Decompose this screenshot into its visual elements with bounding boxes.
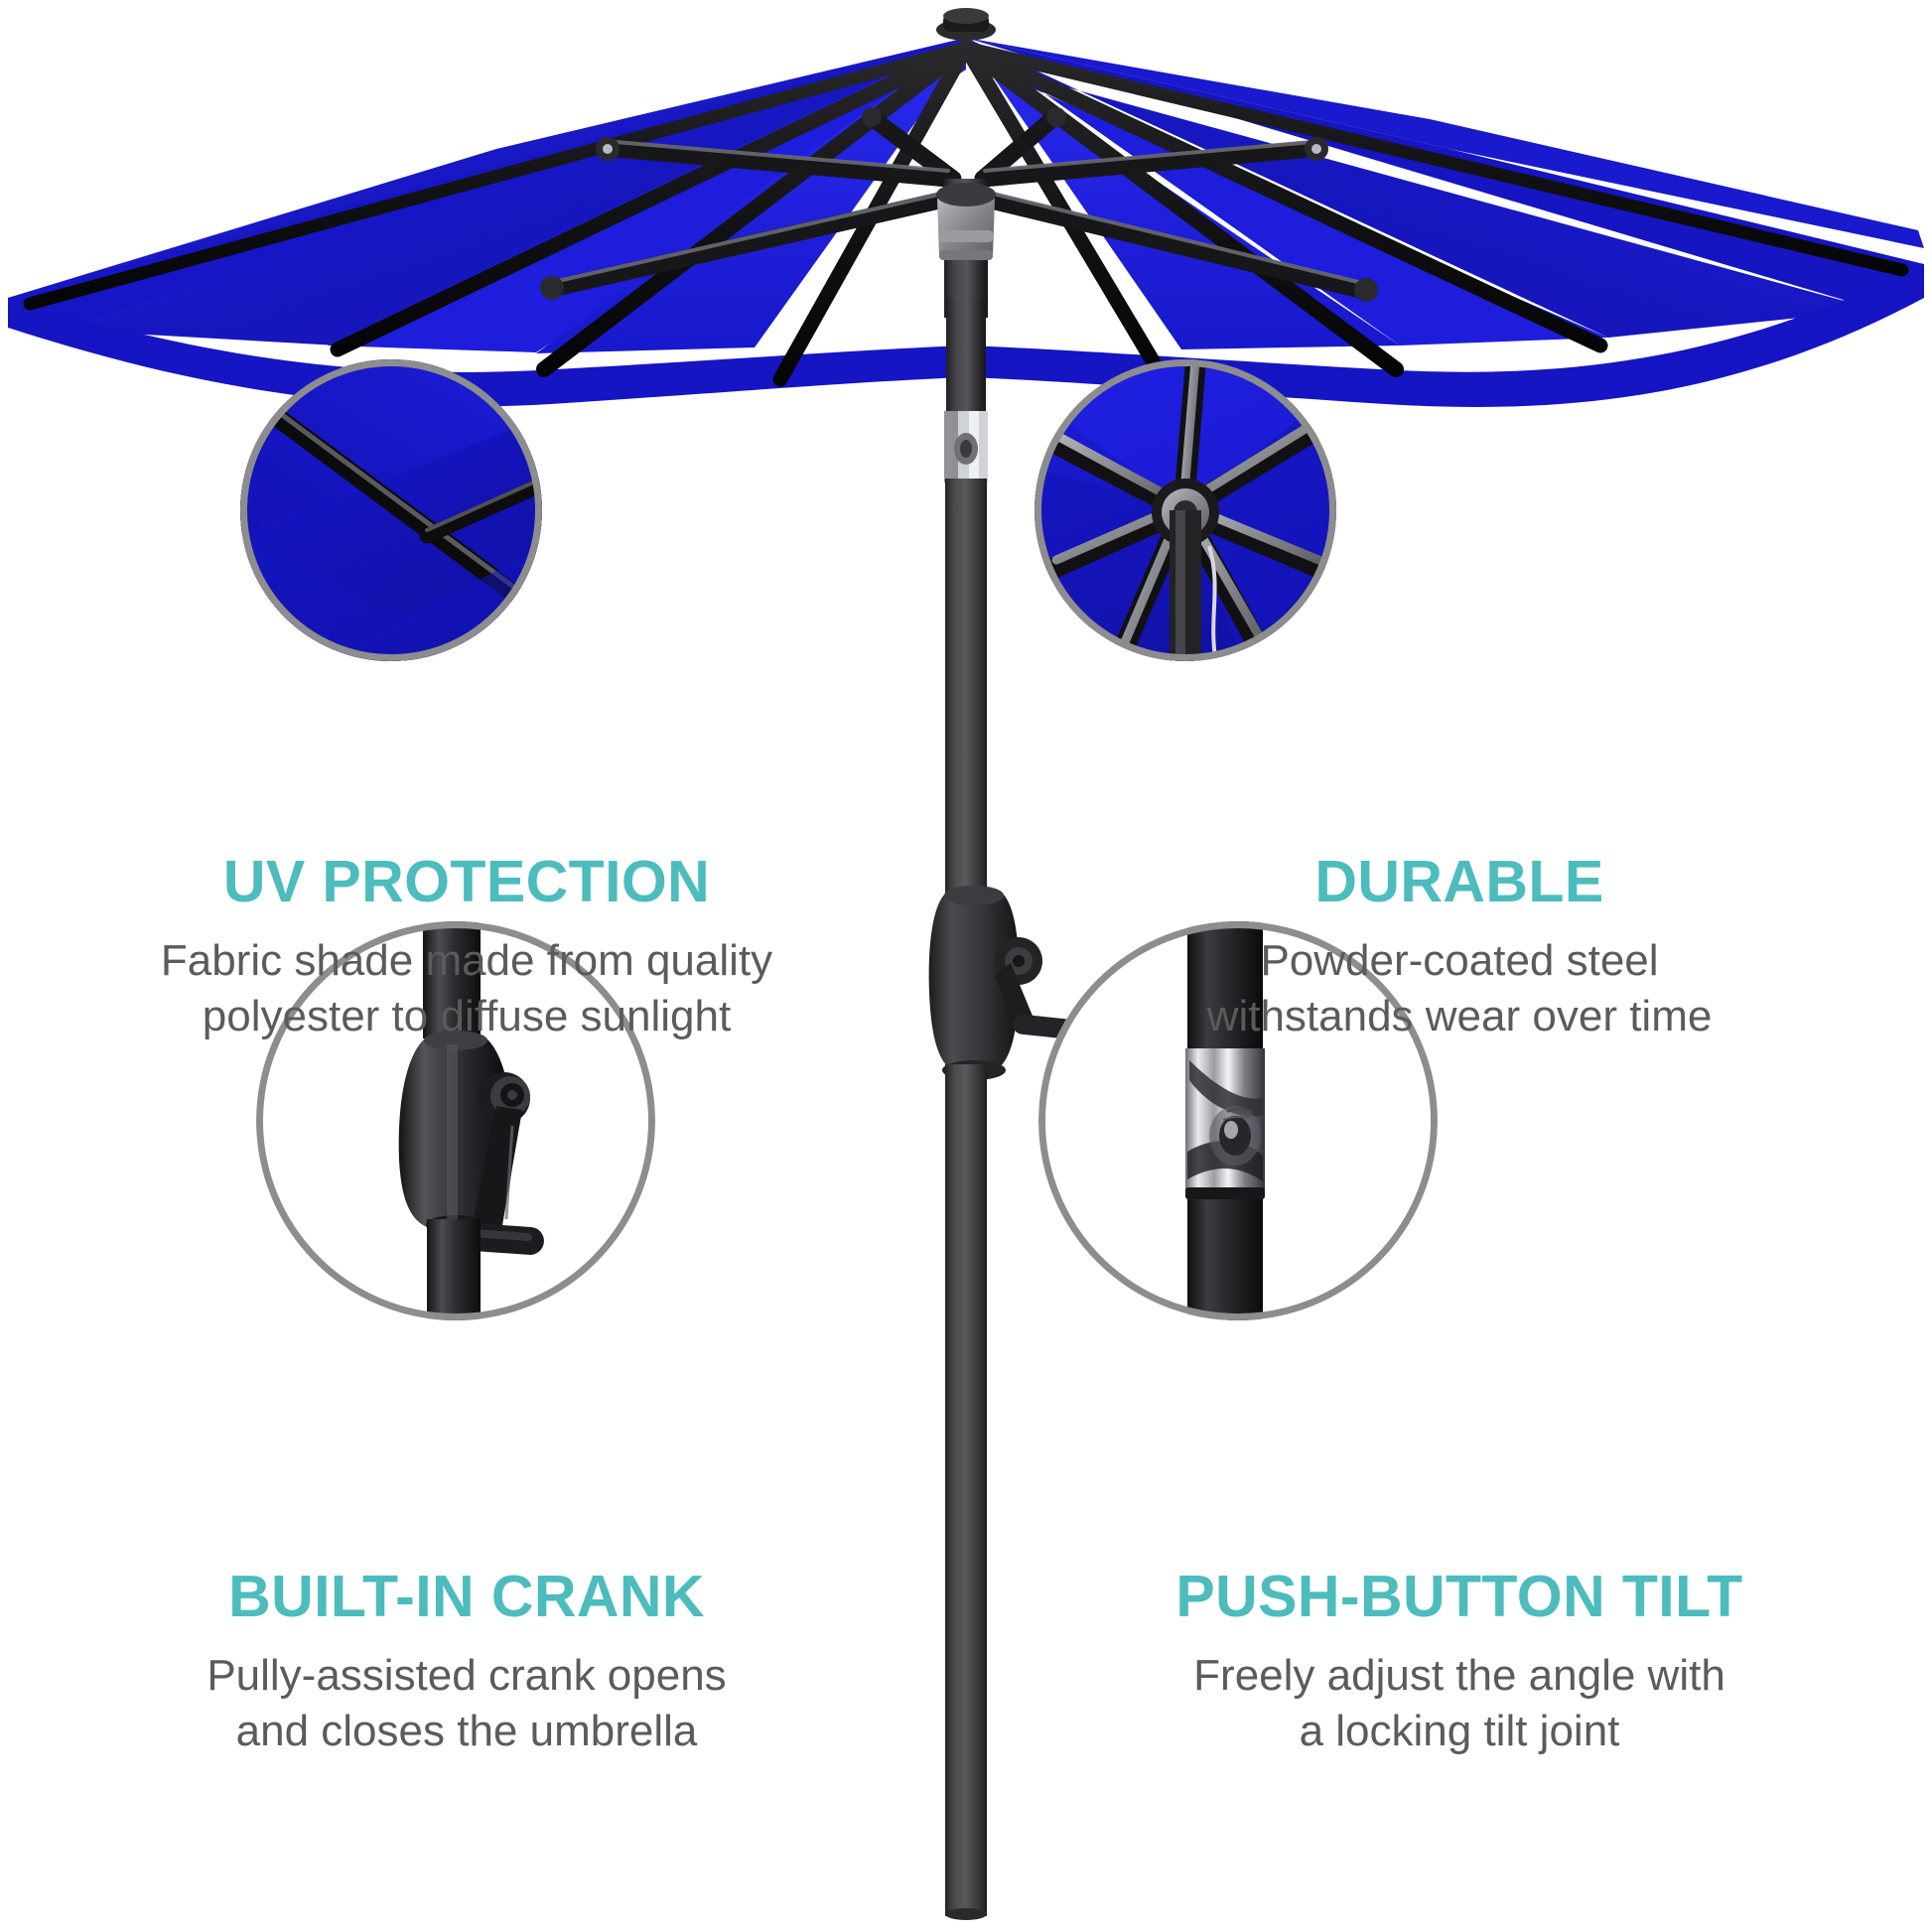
feature-description-line: withstands wear over time <box>1023 989 1896 1043</box>
feature-description: Pully-assisted crank opens and closes th… <box>40 1648 894 1758</box>
feature-title: PUSH-BUTTON TILT <box>1023 1567 1896 1626</box>
infographic-canvas: UV PROTECTION Fabric shade made from qua… <box>0 0 1932 1932</box>
feature-push-button-tilt: PUSH-BUTTON TILT Freely adjust the angle… <box>1023 1567 1896 1758</box>
feature-description-line: Freely adjust the angle with <box>1023 1648 1896 1703</box>
feature-durable: DURABLE Powder-coated steel withstands w… <box>1023 852 1896 1043</box>
feature-uv-protection: UV PROTECTION Fabric shade made from qua… <box>40 852 894 1043</box>
center-hub <box>936 179 996 318</box>
feature-description-line: and closes the umbrella <box>40 1704 894 1758</box>
feature-title: UV PROTECTION <box>40 852 894 911</box>
feature-description-line: Fabric shade made from quality <box>40 933 894 988</box>
finial-icon <box>936 8 996 41</box>
feature-description-line: polyester to diffuse sunlight <box>40 989 894 1043</box>
durable-callout <box>1035 359 1336 661</box>
feature-title: DURABLE <box>1023 852 1896 911</box>
feature-description: Powder-coated steel withstands wear over… <box>1023 933 1896 1043</box>
feature-built-in-crank: BUILT-IN CRANK Pully-assisted crank open… <box>40 1567 894 1758</box>
uv-protection-callout <box>240 359 542 661</box>
feature-description-line: Pully-assisted crank opens <box>40 1648 894 1703</box>
feature-description: Fabric shade made from quality polyester… <box>40 933 894 1043</box>
feature-description-line: a locking tilt joint <box>1023 1704 1896 1758</box>
feature-description: Freely adjust the angle with a locking t… <box>1023 1648 1896 1758</box>
feature-description-line: Powder-coated steel <box>1023 933 1896 988</box>
feature-title: BUILT-IN CRANK <box>40 1567 894 1626</box>
